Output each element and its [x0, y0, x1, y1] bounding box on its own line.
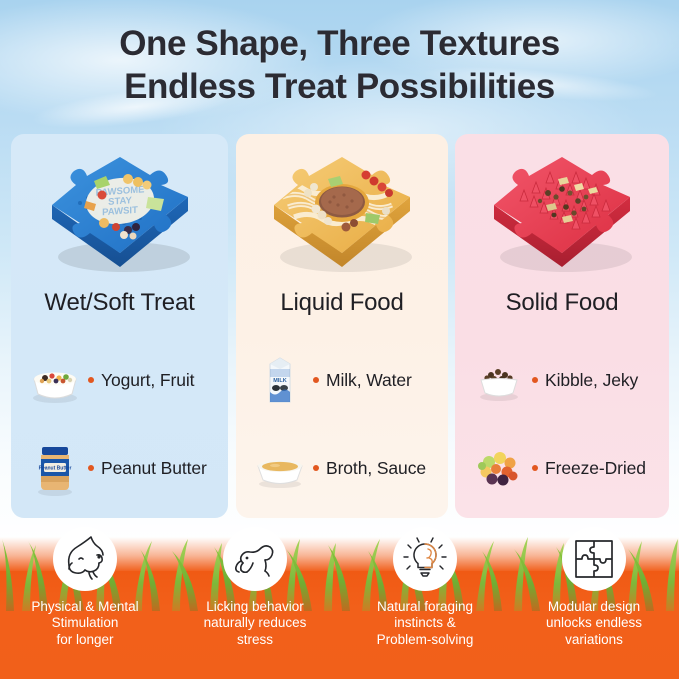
- bullet-label: Peanut Butter: [101, 458, 207, 479]
- broth-bowl-icon: [250, 438, 310, 498]
- bullet-list-solid-food: Kibble, Jeky: [455, 336, 669, 512]
- dog-head-icon: [53, 527, 117, 591]
- benefit-item-stimulation[interactable]: Physical & Mental Stimulation for longer: [0, 527, 170, 648]
- feature-card-list: PAWSOME STAY PAWSIT: [0, 134, 679, 518]
- benefit-text: Licking behavior naturally reduces stres…: [170, 599, 340, 648]
- benefit-item-licking[interactable]: Licking behavior naturally reduces stres…: [170, 527, 340, 648]
- bullet-dot: [313, 465, 319, 471]
- milk-carton-icon: MILK: [250, 350, 310, 410]
- benefit-line-3: variations: [515, 632, 673, 648]
- benefit-text: Physical & Mental Stimulation for longer: [0, 599, 170, 648]
- svg-text:MILK: MILK: [273, 378, 286, 384]
- yogurt-bowl-icon: [25, 350, 85, 410]
- bullet-dot: [88, 465, 94, 471]
- feature-card-solid-food[interactable]: Solid Food: [455, 134, 669, 518]
- benefit-line-1: Natural foraging: [346, 599, 504, 615]
- benefit-line-2: instincts &: [346, 615, 504, 631]
- feature-card-liquid-food[interactable]: Liquid Food MILK Milk, Water: [236, 134, 448, 518]
- bullet-row: Yogurt, Fruit: [11, 336, 228, 424]
- bullet-label: Freeze-Dried: [545, 458, 646, 479]
- bullet-label: Yogurt, Fruit: [101, 370, 194, 391]
- bullet-row: MILK Milk, Water: [236, 336, 448, 424]
- product-photo-red-mat: [455, 134, 669, 286]
- card-title-liquid-food: Liquid Food: [236, 289, 448, 317]
- headline-line-1: One Shape, Three Textures: [0, 22, 679, 65]
- benefit-line-2: unlocks endless: [515, 615, 673, 631]
- bullet-label: Kibble, Jeky: [545, 370, 638, 391]
- product-photo-yellow-mat: [236, 134, 448, 286]
- red-puzzle-mat-icon: [462, 135, 662, 285]
- svg-text:Peanut Butter: Peanut Butter: [39, 466, 72, 472]
- brain-bulb-icon: [393, 527, 457, 591]
- dog-licking-icon: [223, 527, 287, 591]
- benefit-text: Natural foraging instincts & Problem-sol…: [340, 599, 510, 648]
- bullet-row: Kibble, Jeky: [455, 336, 669, 424]
- yellow-puzzle-mat-icon: [242, 135, 442, 285]
- benefit-text: Modular design unlocks endless variation…: [509, 599, 679, 648]
- headline-line-2: Endless Treat Possibilities: [0, 65, 679, 108]
- benefit-line-3: Problem-solving: [346, 632, 504, 648]
- bullet-label: Broth, Sauce: [326, 458, 426, 479]
- bullet-list-wet-soft-treat: Yogurt, Fruit Peanut Butter Peanut But: [11, 336, 228, 512]
- benefit-list: Physical & Mental Stimulation for longer…: [0, 527, 679, 679]
- benefit-line-2: Stimulation: [6, 615, 164, 631]
- blue-puzzle-mat-icon: PAWSOME STAY PAWSIT: [20, 135, 220, 285]
- card-title-wet-soft-treat: Wet/Soft Treat: [11, 289, 228, 317]
- benefit-line-1: Modular design: [515, 599, 673, 615]
- benefit-line-2: naturally reduces: [176, 615, 334, 631]
- bullet-dot: [532, 465, 538, 471]
- page-title: One Shape, Three Textures Endless Treat …: [0, 22, 679, 108]
- bullet-list-liquid-food: MILK Milk, Water: [236, 336, 448, 512]
- peanut-butter-jar-icon: Peanut Butter: [25, 438, 85, 498]
- puzzle-grid-icon: [562, 527, 626, 591]
- feature-card-wet-soft-treat[interactable]: PAWSOME STAY PAWSIT: [11, 134, 228, 518]
- card-title-solid-food: Solid Food: [455, 289, 669, 317]
- freeze-dried-mix-icon: [469, 438, 529, 498]
- benefit-line-3: stress: [176, 632, 334, 648]
- kibble-bowl-icon: [469, 350, 529, 410]
- bullet-dot: [532, 377, 538, 383]
- benefit-item-modular[interactable]: Modular design unlocks endless variation…: [509, 527, 679, 648]
- benefit-line-3: for longer: [6, 632, 164, 648]
- benefit-line-1: Physical & Mental: [6, 599, 164, 615]
- benefit-item-foraging[interactable]: Natural foraging instincts & Problem-sol…: [340, 527, 510, 648]
- bullet-dot: [88, 377, 94, 383]
- product-photo-blue-mat: PAWSOME STAY PAWSIT: [11, 134, 228, 286]
- bullet-dot: [313, 377, 319, 383]
- benefit-line-1: Licking behavior: [176, 599, 334, 615]
- bullet-label: Milk, Water: [326, 370, 412, 391]
